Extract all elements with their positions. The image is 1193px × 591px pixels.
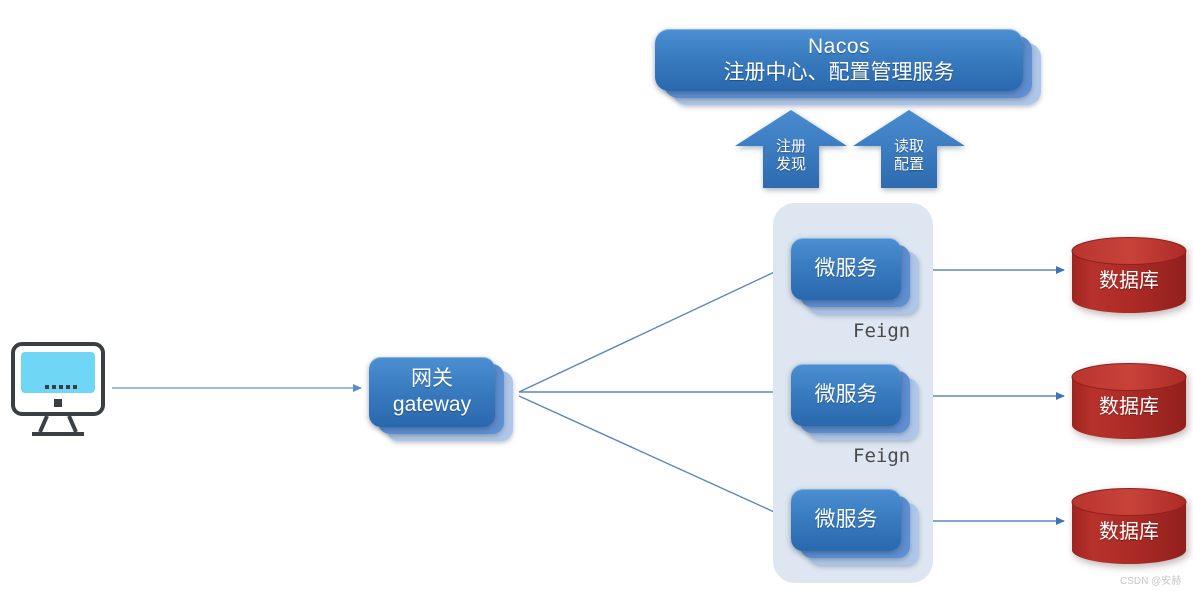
gateway-node[interactable]: 网关 gateway [369, 357, 495, 427]
microservice-3-front: 微服务 [791, 489, 901, 551]
microservice-3-label: 微服务 [815, 507, 878, 533]
nacos-subtitle: 注册中心、配置管理服务 [724, 60, 955, 86]
microservice-2-front: 微服务 [791, 364, 901, 426]
database-node-1[interactable]: 数据库 [1070, 237, 1188, 313]
database-cylinder-icon-1 [1070, 237, 1188, 313]
read-config-arrow[interactable]: 读取 配置 [853, 110, 965, 188]
nacos-title: Nacos [808, 34, 870, 60]
microservice-node-1[interactable]: 微服务 [791, 238, 901, 300]
register-discover-arrow[interactable]: 注册 发现 [735, 110, 847, 188]
nacos-node[interactable]: Nacos 注册中心、配置管理服务 [655, 29, 1023, 91]
register-discover-arrow-shape [735, 110, 847, 188]
desktop-monitor-icon [10, 341, 106, 443]
watermark: CSDN @安赫 [1120, 572, 1181, 587]
database-node-2[interactable]: 数据库 [1070, 363, 1188, 439]
database-cylinder-icon-3 [1070, 488, 1188, 564]
gateway-label-en: gateway [393, 392, 471, 418]
feign-label-1: Feign [853, 320, 910, 342]
gateway-label-cn: 网关 [411, 366, 453, 392]
microservice-node-2[interactable]: 微服务 [791, 364, 901, 426]
microservice-1-front: 微服务 [791, 238, 901, 300]
client-desktop[interactable] [10, 341, 106, 443]
architecture-diagram-canvas: Nacos 注册中心、配置管理服务 注册 发现 读取 配置 [0, 0, 1193, 591]
gateway-front: 网关 gateway [369, 357, 495, 427]
microservice-1-label: 微服务 [815, 256, 878, 282]
read-config-arrow-shape [853, 110, 965, 188]
database-cylinder-icon-2 [1070, 363, 1188, 439]
microservice-node-3[interactable]: 微服务 [791, 489, 901, 551]
feign-label-2: Feign [853, 445, 910, 467]
database-node-3[interactable]: 数据库 [1070, 488, 1188, 564]
microservice-2-label: 微服务 [815, 382, 878, 408]
nacos-front: Nacos 注册中心、配置管理服务 [655, 29, 1023, 91]
